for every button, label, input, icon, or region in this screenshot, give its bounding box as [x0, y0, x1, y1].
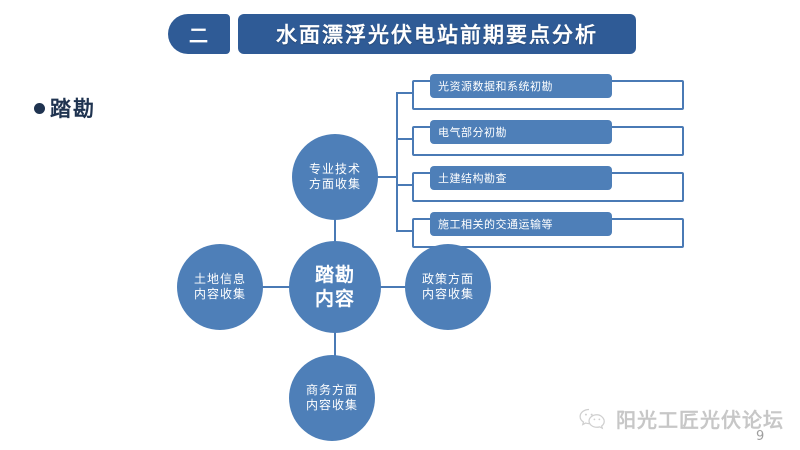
- section-number-badge: 二: [168, 14, 230, 54]
- node-label-line1: 商务方面: [306, 383, 358, 398]
- branch-row[interactable]: 光资源数据和系统初勘: [412, 74, 686, 112]
- node-circle-land-information[interactable]: 土地信息 内容收集: [177, 244, 263, 330]
- branch-label[interactable]: 施工相关的交通运输等: [430, 212, 612, 236]
- center-label-line1: 踏勘: [315, 263, 355, 287]
- node-circle-policy[interactable]: 政策方面 内容收集: [405, 244, 491, 330]
- branch-row[interactable]: 电气部分初勘: [412, 120, 686, 158]
- bullet-heading-label: 踏勘: [50, 93, 96, 123]
- branch-label[interactable]: 土建结构勘查: [430, 166, 612, 190]
- center-label-line2: 内容: [315, 287, 355, 311]
- bullet-heading: 踏勘: [34, 93, 96, 123]
- node-label-line2: 内容收集: [194, 287, 246, 302]
- branch-label[interactable]: 电气部分初勘: [430, 120, 612, 144]
- node-circle-business[interactable]: 商务方面 内容收集: [289, 355, 375, 441]
- node-label-line1: 专业技术: [309, 162, 361, 177]
- node-circle-center-survey-content[interactable]: 踏勘 内容: [289, 241, 381, 333]
- wechat-icon: [578, 407, 608, 431]
- page-number: 9: [756, 429, 764, 444]
- node-label-line2: 内容收集: [306, 398, 358, 413]
- node-label-line2: 方面收集: [309, 177, 361, 192]
- branch-label[interactable]: 光资源数据和系统初勘: [430, 74, 612, 98]
- node-circle-professional-technology[interactable]: 专业技术 方面收集: [292, 134, 378, 220]
- watermark: 阳光工匠光伏论坛: [578, 404, 784, 433]
- slide-title-bar: 二 水面漂浮光伏电站前期要点分析: [168, 14, 636, 54]
- node-label-line2: 内容收集: [422, 287, 474, 302]
- node-label-line1: 政策方面: [422, 272, 474, 287]
- branch-row[interactable]: 土建结构勘查: [412, 166, 686, 204]
- bullet-dot-icon: [34, 103, 45, 114]
- node-label-line1: 土地信息: [194, 272, 246, 287]
- page-title: 水面漂浮光伏电站前期要点分析: [238, 14, 636, 54]
- slide-canvas: 二 水面漂浮光伏电站前期要点分析 踏勘 光资源数: [0, 0, 800, 450]
